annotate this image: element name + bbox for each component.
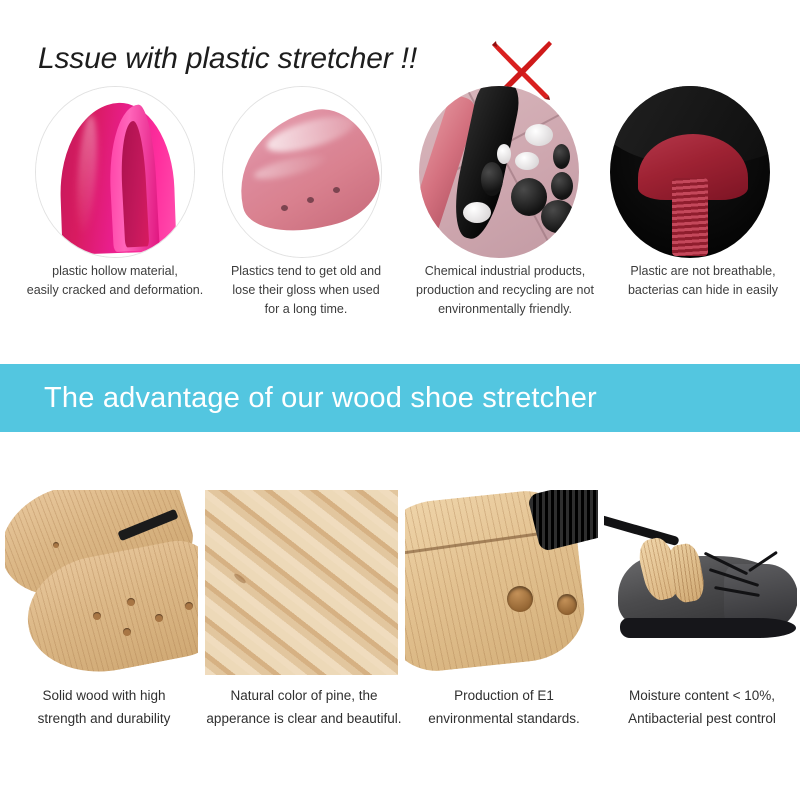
plastic-caption-1: plastic hollow material,easily cracked a…	[16, 262, 214, 300]
glossy-pink-plastic-toe-photo	[222, 86, 382, 258]
wood-caption-4: Moisture content < 10%,Antibacterial pes…	[604, 684, 800, 730]
wood-block-drilled-holes-photo	[405, 490, 598, 675]
plastic-caption-row: plastic hollow material,easily cracked a…	[0, 262, 800, 332]
plastic-caption-3: Chemical industrial products,production …	[405, 262, 605, 319]
headline-row: Lssue with plastic stretcher !!	[0, 18, 800, 86]
plastic-caption-4: Plastic are not breathable,bacterias can…	[608, 262, 798, 300]
wood-caption-1: Solid wood with highstrength and durabil…	[6, 684, 202, 730]
page-title: Lssue with plastic stretcher !!	[38, 42, 417, 76]
wooden-shoe-stretcher-blocks-photo	[5, 490, 198, 675]
advantage-banner: The advantage of our wood shoe stretcher	[0, 364, 800, 432]
wood-caption-row: Solid wood with highstrength and durabil…	[0, 684, 800, 744]
wood-caption-2: Natural color of pine, theapperance is c…	[206, 684, 402, 730]
plastic-issues-section: Lssue with plastic stretcher !!	[0, 0, 800, 360]
red-screw-inside-black-shoe-photo	[610, 86, 770, 258]
banner-title: The advantage of our wood shoe stretcher	[44, 382, 597, 415]
plastic-photo-row	[0, 86, 800, 261]
plastic-photo-cell-2	[212, 86, 392, 261]
magenta-hollow-plastic-stretcher-photo	[35, 86, 195, 258]
stretcher-inside-leather-shoe-photo	[604, 490, 797, 675]
plastic-caption-2: Plastics tend to get old andlose their g…	[215, 262, 397, 319]
wood-caption-3: Production of E1environmental standards.	[406, 684, 602, 730]
plastic-photo-cell-3	[409, 86, 589, 261]
plastic-photo-cell-4	[600, 86, 780, 261]
pine-wood-grain-closeup-photo	[205, 490, 398, 675]
wood-photo-row	[0, 490, 800, 675]
wood-advantages-section: Solid wood with highstrength and durabil…	[0, 432, 800, 800]
plastic-plugs-on-tile-photo	[419, 86, 579, 258]
plastic-photo-cell-1	[25, 86, 205, 261]
